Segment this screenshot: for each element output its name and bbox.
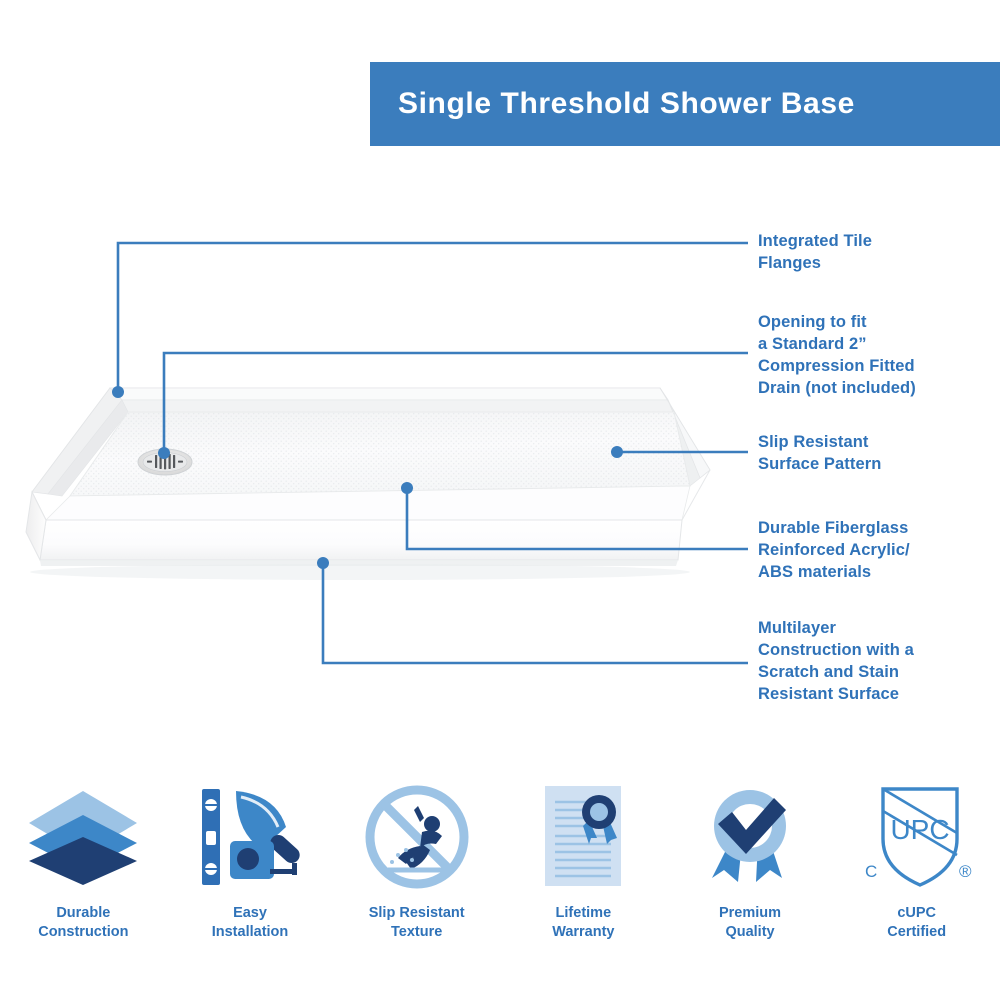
title-banner: Single Threshold Shower Base	[370, 62, 1000, 146]
upc-mark-left: C	[865, 862, 877, 881]
callout-line: Drain (not included)	[758, 378, 1000, 400]
callout-line: Slip Resistant	[758, 432, 993, 454]
shower-base-drawing	[10, 360, 740, 620]
callout-line: Construction with a	[758, 640, 993, 662]
upc-shield-text: UPC	[890, 814, 949, 845]
feature-label-line: Installation	[212, 923, 289, 942]
feature-label-line: Construction	[38, 923, 128, 942]
check-rosette-icon	[698, 778, 802, 896]
feature-premium-quality: Premium Quality	[667, 778, 834, 963]
callout-line: a Standard 2”	[758, 334, 1000, 356]
callout-line: Flanges	[758, 253, 993, 275]
feature-label-line: cUPC	[887, 904, 946, 923]
product-illustration	[10, 360, 740, 620]
callout-line: Compression Fitted	[758, 356, 1000, 378]
callout-multilayer-construction: Multilayer Construction with a Scratch a…	[758, 618, 993, 706]
feature-label-line: Certified	[887, 923, 946, 942]
feature-label-line: Texture	[369, 923, 465, 942]
feature-slip-resistant-texture: Slip Resistant Texture	[333, 778, 500, 963]
stacked-layers-icon	[25, 778, 141, 896]
page-title: Single Threshold Shower Base	[398, 87, 855, 121]
feature-lifetime-warranty: Lifetime Warranty	[500, 778, 667, 963]
feature-label: cUPC Certified	[887, 904, 946, 941]
callout-line: Multilayer	[758, 618, 993, 640]
callout-line: Reinforced Acrylic/	[758, 540, 996, 562]
feature-label-line: Durable	[38, 904, 128, 923]
feature-easy-installation: Easy Installation	[167, 778, 334, 963]
feature-label-line: Lifetime	[552, 904, 614, 923]
callout-line: Scratch and Stain	[758, 662, 993, 684]
certificate-ribbon-icon	[533, 778, 633, 896]
upc-shield-icon: UPC C ®	[859, 778, 975, 896]
feature-badges-row: Durable Construction	[0, 778, 1000, 963]
callout-line: Opening to fit	[758, 312, 1000, 334]
feature-durable-construction: Durable Construction	[0, 778, 167, 963]
level-trowel-tape-icon	[192, 778, 308, 896]
feature-label-line: Quality	[719, 923, 781, 942]
callout-integrated-tile-flanges: Integrated Tile Flanges	[758, 231, 993, 275]
feature-label: Premium Quality	[719, 904, 781, 941]
callout-standard-drain-opening: Opening to fit a Standard 2” Compression…	[758, 312, 1000, 400]
callout-line: Durable Fiberglass	[758, 518, 996, 540]
feature-label: Durable Construction	[38, 904, 128, 941]
feature-cupc-certified: UPC C ® cUPC Certified	[833, 778, 1000, 963]
callout-durable-materials: Durable Fiberglass Reinforced Acrylic/ A…	[758, 518, 996, 584]
feature-label-line: Premium	[719, 904, 781, 923]
callout-line: Surface Pattern	[758, 454, 993, 476]
infographic-canvas: Single Threshold Shower Base	[0, 0, 1000, 1000]
drain-grate	[138, 449, 192, 475]
feature-label-line: Easy	[212, 904, 289, 923]
feature-label: Easy Installation	[212, 904, 289, 941]
no-slip-icon	[362, 778, 472, 896]
callout-line: Integrated Tile	[758, 231, 993, 253]
feature-label-line: Slip Resistant	[369, 904, 465, 923]
feature-label-line: Warranty	[552, 923, 614, 942]
callout-line: ABS materials	[758, 562, 996, 584]
upc-mark-right: ®	[959, 862, 972, 881]
feature-label: Slip Resistant Texture	[369, 904, 465, 941]
callout-line: Resistant Surface	[758, 684, 993, 706]
feature-label: Lifetime Warranty	[552, 904, 614, 941]
callout-slip-resistant-surface-pattern: Slip Resistant Surface Pattern	[758, 432, 993, 476]
